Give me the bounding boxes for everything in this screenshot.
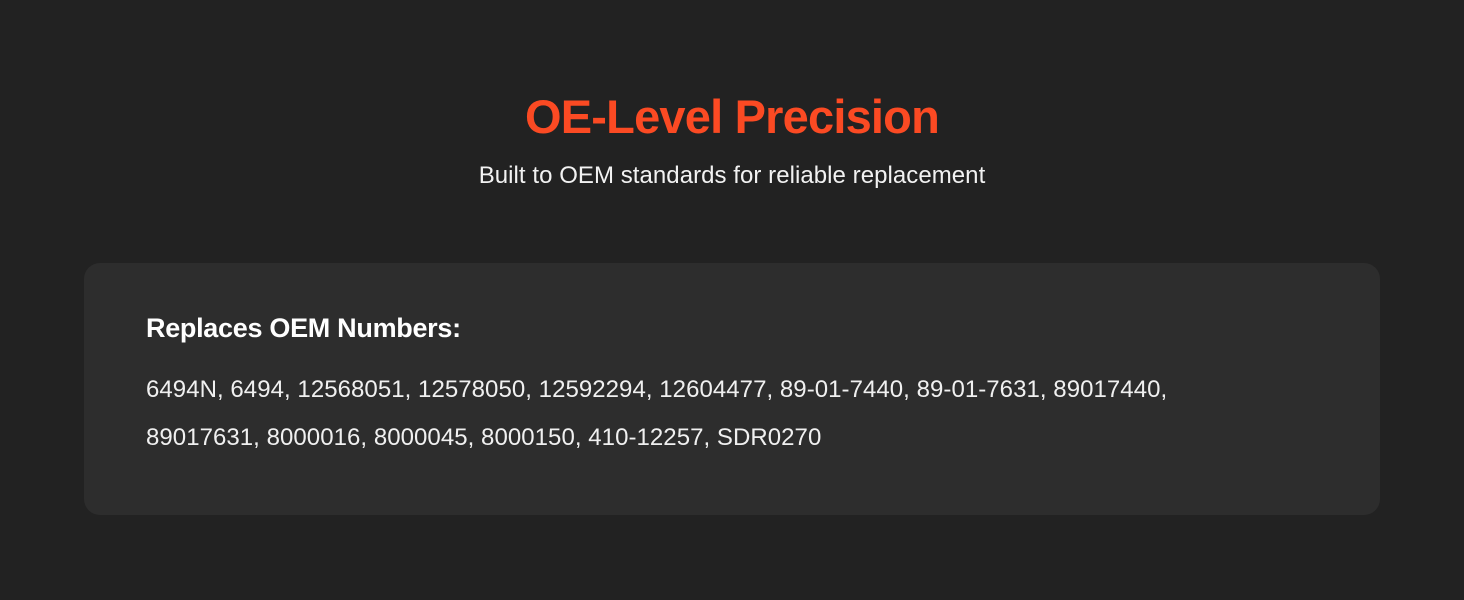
oem-numbers-list: 6494N, 6494, 12568051, 12578050, 1259229…	[146, 345, 1276, 462]
oem-card-title: Replaces OEM Numbers:	[146, 311, 1318, 345]
section-header: OE-Level Precision Built to OEM standard…	[0, 0, 1464, 191]
oe-precision-section: OE-Level Precision Built to OEM standard…	[0, 0, 1464, 600]
page-subtitle: Built to OEM standards for reliable repl…	[0, 146, 1464, 191]
page-title: OE-Level Precision	[0, 0, 1464, 146]
oem-numbers-card: Replaces OEM Numbers: 6494N, 6494, 12568…	[84, 263, 1380, 515]
